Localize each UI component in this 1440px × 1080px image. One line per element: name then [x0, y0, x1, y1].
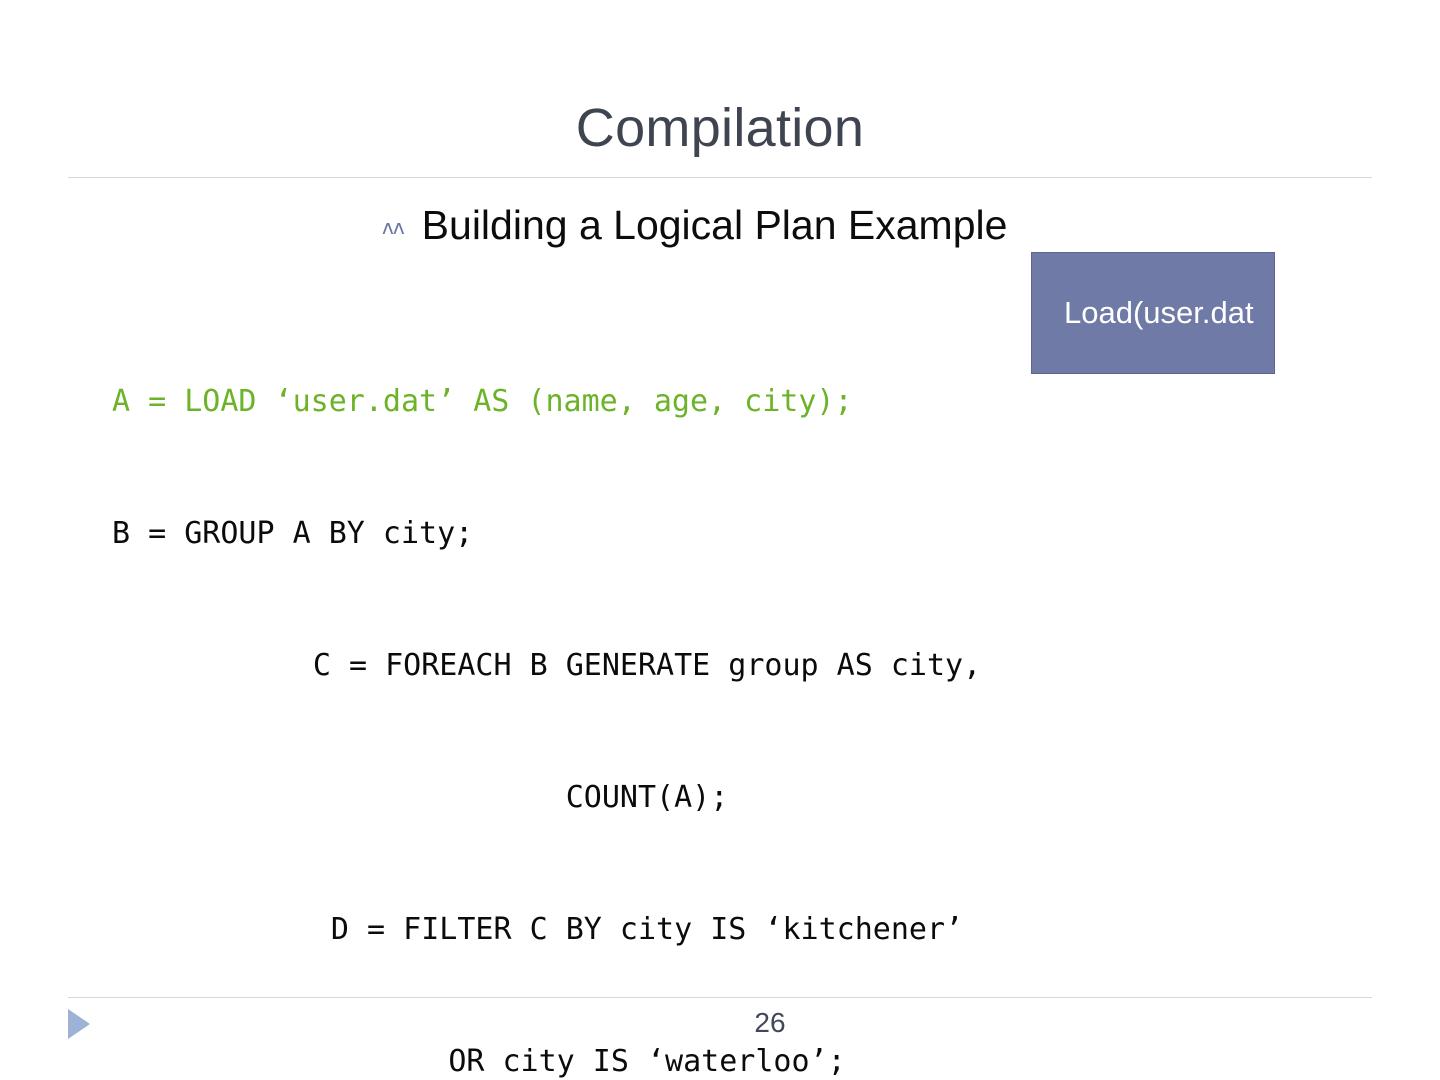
code-line: OR city IS ‘waterloo’;: [112, 1040, 1182, 1080]
code-line: COUNT(A);: [112, 776, 1182, 820]
page-title: Compilation: [0, 100, 1440, 157]
code-line: D = FILTER C BY city IS ‘kitchener’: [112, 908, 1182, 952]
code-line: C = FOREACH B GENERATE group AS city,: [112, 644, 1182, 688]
zigzag-bullet-icon: ʌʌ: [382, 217, 404, 237]
footer-divider: [68, 997, 1372, 998]
title-divider: [68, 177, 1372, 178]
page-number: 26: [0, 1008, 1440, 1039]
bullet-heading: ʌʌ Building a Logical Plan Example: [382, 203, 1007, 249]
logical-plan-node-load: Load(user.dat: [1031, 252, 1275, 374]
slide-canvas: Compilation ʌʌ Building a Logical Plan E…: [0, 0, 1440, 1080]
code-line: A = LOAD ‘user.dat’ AS (name, age, city)…: [112, 380, 1182, 424]
bullet-heading-label: Building a Logical Plan Example: [422, 203, 1008, 249]
code-block: A = LOAD ‘user.dat’ AS (name, age, city)…: [112, 292, 1182, 1080]
logical-plan-node-label: Load(user.dat: [1064, 296, 1254, 330]
code-line: B = GROUP A BY city;: [112, 512, 1182, 556]
